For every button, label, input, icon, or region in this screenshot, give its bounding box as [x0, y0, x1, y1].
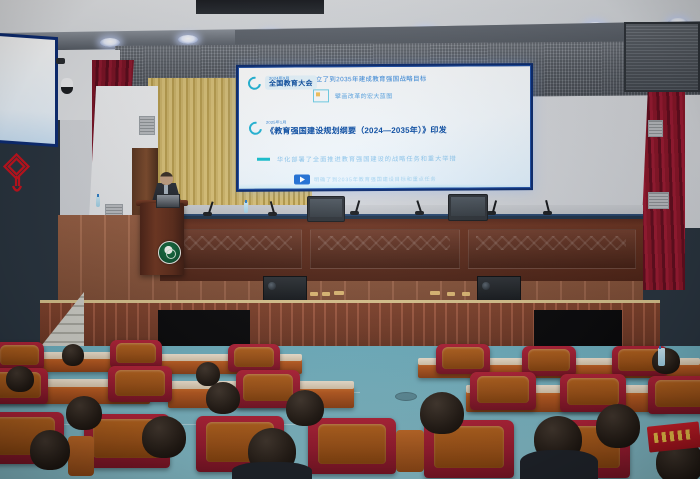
- attendee-head-13: [652, 348, 680, 374]
- dome-camera-icon: [61, 78, 73, 94]
- stage-monitor-speaker-left: [263, 276, 307, 302]
- stage-tape-mark-2: [322, 292, 330, 296]
- check-circle-icon-1: [245, 74, 263, 92]
- wall-vent-upper: [139, 116, 155, 135]
- projection-screen: 确立了到2035年建成教育强国战略目标 擘画改革的宏大蓝图 2024年9月 全国…: [238, 65, 531, 190]
- attendee-shoulders-2: [232, 462, 312, 479]
- table-zigzag-trim-1: [176, 236, 292, 250]
- red-honor-banner: [647, 421, 700, 452]
- water-bottle-podium: [244, 202, 248, 213]
- seat-a2[interactable]: [110, 340, 162, 368]
- document-square-icon: [313, 89, 329, 102]
- university-crest-emblem: [158, 241, 181, 264]
- ceiling-light-2: [178, 35, 198, 44]
- wall-vent-right: [648, 120, 663, 137]
- slide-header-line-2: 擘画改革的宏大蓝图: [335, 91, 393, 100]
- podium: [140, 203, 184, 275]
- attendee-shoulders-1: [520, 450, 598, 479]
- wall-vent-right-low: [648, 192, 669, 209]
- stage-tape-mark-4: [430, 291, 440, 295]
- attendee-head-5: [142, 416, 186, 458]
- security-camera-icon: [56, 58, 65, 64]
- attendee-head-1: [62, 344, 84, 366]
- lecture-hall-photo: 确立了到2035年建成教育强国战略目标 擘画改革的宏大蓝图 2024年9月 全国…: [0, 0, 700, 479]
- stage-tape-mark-3: [334, 291, 344, 295]
- stage-tape-mark-1: [310, 292, 318, 296]
- audience-water-bottle: [658, 348, 665, 366]
- table-zigzag-trim-2: [318, 236, 450, 250]
- podium-laptop: [156, 194, 180, 208]
- attendee-head-6: [206, 382, 240, 414]
- presenter-head: [160, 172, 173, 185]
- stage-tape-mark-6: [462, 292, 470, 296]
- projection-screen-frame: 确立了到2035年建成教育强国战略目标 擘画改革的宏大蓝图 2024年9月 全国…: [236, 63, 533, 192]
- chinese-knot-ornament: [2, 152, 32, 198]
- stage-monitor-speaker-right: [477, 276, 521, 302]
- seat-b4[interactable]: [470, 372, 536, 410]
- seat-a4[interactable]: [436, 344, 490, 374]
- armrest-2: [396, 430, 424, 472]
- side-display-screen-left: [0, 33, 58, 147]
- seat-b6[interactable]: [648, 376, 700, 414]
- stage-tape-mark-5: [447, 292, 455, 296]
- rear-acoustic-panel-right: [624, 22, 700, 92]
- table-zigzag-trim-3: [476, 236, 626, 250]
- ceiling-dark-panel: [196, 0, 324, 14]
- slide-item-1-title: 全国教育大会: [269, 80, 313, 87]
- seat-b2[interactable]: [108, 366, 172, 402]
- attendee-head-9: [420, 392, 464, 434]
- attendee-head-8: [286, 390, 324, 426]
- attendee-head-11: [596, 404, 640, 448]
- attendee-head-14: [30, 430, 70, 470]
- table-monitor-1: [307, 196, 345, 222]
- floor-drain: [395, 392, 417, 401]
- conference-table: [160, 216, 643, 281]
- attendee-head-4: [66, 396, 102, 430]
- table-monitor-2: [448, 194, 488, 221]
- slide-item-2-title: 《教育强国建设规划纲要（2024—2035年）》印发: [266, 125, 447, 137]
- seat-c4[interactable]: [308, 418, 396, 474]
- slide-wave-decoration: [239, 161, 530, 189]
- slide-header-line-1: 确立了到2035年建成教育强国战略目标: [309, 74, 427, 84]
- teal-bar-icon: [257, 158, 270, 161]
- attendee-head-2: [6, 366, 34, 392]
- seat-a3[interactable]: [228, 344, 280, 372]
- armrest-1: [68, 436, 94, 476]
- water-bottle-table: [96, 196, 100, 207]
- check-circle-icon-2: [246, 119, 264, 137]
